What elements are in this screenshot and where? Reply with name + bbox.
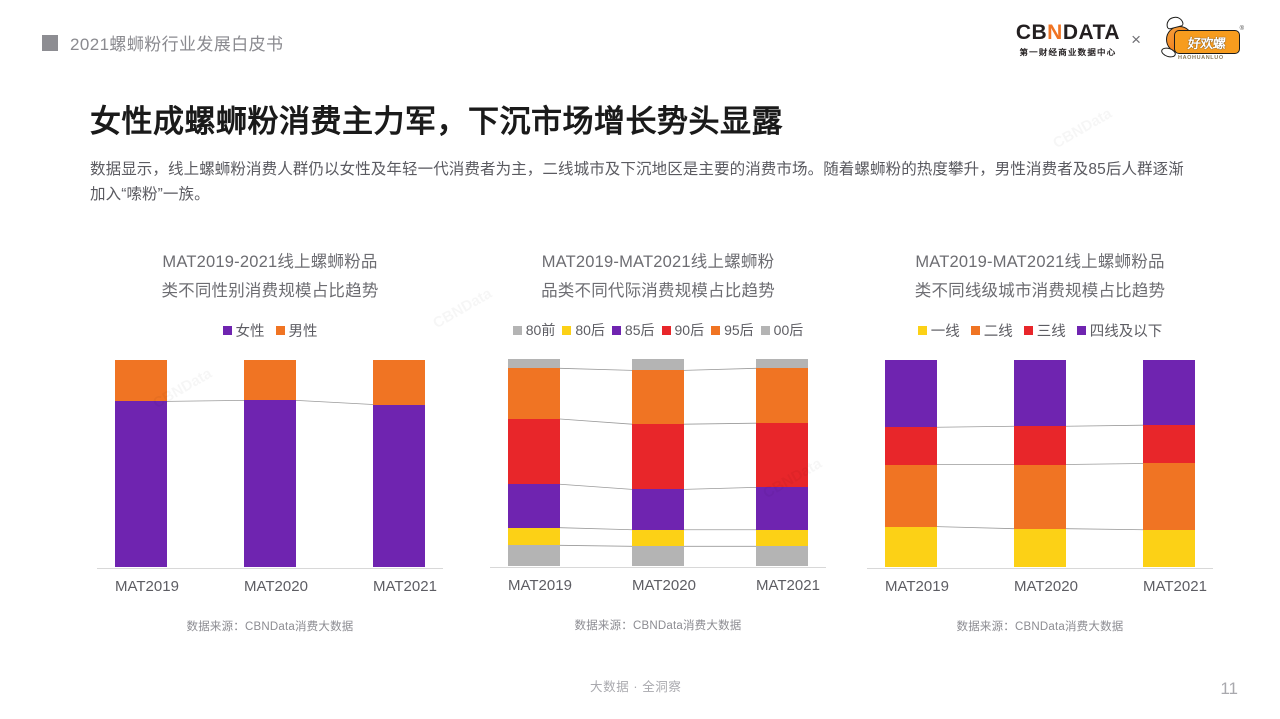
xaxis-label: MAT2019: [115, 578, 167, 595]
legend-item-citytier-3[interactable]: 四线及以下: [1077, 320, 1163, 341]
bar-generation-MAT2021[interactable]: [756, 359, 808, 566]
chart-citytier-title-line2: 类不同线级城市消费规模占比趋势: [915, 277, 1166, 306]
bar-gender-MAT2020[interactable]: [244, 360, 296, 567]
header-logos: CBNDATA 第一财经商业数据中心 × 好欢螺 HAOHUANLUO ®: [1016, 14, 1244, 66]
legend-label: 80前: [526, 320, 556, 340]
page-title: 女性成螺蛳粉消费主力军，下沉市场增长势头显露: [90, 96, 783, 141]
chart-generation-title: MAT2019-MAT2021线上螺蛳粉 品类不同代际消费规模占比趋势: [541, 248, 775, 306]
legend-swatch-icon: [562, 326, 571, 335]
chart-generation-source: 数据来源：CBNData消费大数据: [575, 617, 742, 633]
bar-segment-女性[interactable]: [115, 401, 167, 567]
bar-citytier-MAT2021[interactable]: [1143, 360, 1195, 567]
bar-segment-00后[interactable]: [632, 359, 684, 370]
chart-citytier-title-line1: MAT2019-MAT2021线上螺蛳粉品: [915, 248, 1166, 277]
xaxis-label: MAT2021: [756, 577, 808, 594]
xaxis-label: MAT2020: [1014, 578, 1066, 595]
bar-citytier-MAT2019[interactable]: [885, 360, 937, 567]
legend-label: 四线及以下: [1090, 320, 1163, 341]
legend-label: 85后: [625, 320, 655, 340]
legend-swatch-icon: [513, 326, 522, 335]
bar-segment-80前[interactable]: [756, 546, 808, 566]
legend-label: 00后: [774, 320, 804, 340]
chart-gender-axis: [97, 568, 443, 569]
chart-generation-plot: [508, 359, 808, 566]
bar-segment-三线[interactable]: [1143, 425, 1195, 463]
legend-item-citytier-1[interactable]: 二线: [971, 320, 1013, 341]
bar-segment-95后[interactable]: [508, 368, 560, 419]
chart-gender-legend: 女性男性: [223, 320, 318, 341]
bar-citytier-MAT2020[interactable]: [1014, 360, 1066, 567]
partner-pinyin: HAOHUANLUO: [1178, 55, 1224, 61]
bar-generation-MAT2020[interactable]: [632, 359, 684, 566]
bar-segment-85后[interactable]: [508, 484, 560, 527]
bar-segment-一线[interactable]: [1014, 529, 1066, 567]
legend-item-gender-0[interactable]: 女性: [223, 320, 265, 341]
legend-swatch-icon: [971, 326, 980, 335]
bar-segment-男性[interactable]: [373, 360, 425, 405]
xaxis-label: MAT2020: [632, 577, 684, 594]
chart-gender-bars: [115, 360, 425, 567]
bar-segment-95后[interactable]: [632, 370, 684, 424]
cbndata-word-part2: DATA: [1063, 21, 1120, 44]
bar-segment-95后[interactable]: [756, 368, 808, 423]
chart-gender-source: 数据来源：CBNData消费大数据: [187, 618, 354, 634]
partner-badge-text: 好欢螺: [1187, 33, 1226, 52]
legend-label: 90后: [675, 320, 705, 340]
legend-label: 二线: [984, 320, 1013, 341]
bar-segment-90后[interactable]: [508, 419, 560, 484]
legend-label: 三线: [1037, 320, 1066, 341]
bar-segment-85后[interactable]: [756, 487, 808, 529]
chart-generation-bars: [508, 359, 808, 566]
registered-mark-icon: ®: [1240, 26, 1244, 32]
chart-generation-xaxis-labels: MAT2019MAT2020MAT2021: [508, 577, 808, 594]
legend-label: 男性: [289, 320, 318, 341]
bar-segment-80后[interactable]: [756, 530, 808, 547]
bar-segment-90后[interactable]: [632, 424, 684, 489]
chart-gender: MAT2019-2021线上螺蛳粉品 类不同性别消费规模占比趋势 女性男性 MA…: [85, 248, 455, 634]
legend-swatch-icon: [1024, 326, 1033, 335]
chart-citytier: MAT2019-MAT2021线上螺蛳粉品 类不同线级城市消费规模占比趋势 一线…: [855, 248, 1225, 634]
chart-citytier-xaxis-labels: MAT2019MAT2020MAT2021: [885, 578, 1195, 595]
bar-segment-80前[interactable]: [508, 545, 560, 566]
chart-gender-plot: [115, 360, 425, 567]
xaxis-label: MAT2020: [244, 578, 296, 595]
page-header: 2021螺蛳粉行业发展白皮书 CBNDATA 第一财经商业数据中心 × 好欢螺 …: [0, 0, 1280, 78]
legend-item-generation-1[interactable]: 80后: [562, 320, 605, 340]
bar-segment-二线[interactable]: [885, 465, 937, 527]
page-number: 11: [1220, 679, 1238, 699]
legend-item-citytier-2[interactable]: 三线: [1024, 320, 1066, 341]
xaxis-label: MAT2019: [508, 577, 560, 594]
chart-citytier-plot: [885, 360, 1195, 567]
legend-swatch-icon: [1077, 326, 1086, 335]
cbndata-wordmark: CBNDATA: [1016, 22, 1120, 43]
legend-item-generation-0[interactable]: 80前: [513, 320, 556, 340]
chart-gender-title-line2: 类不同性别消费规模占比趋势: [161, 277, 378, 306]
chart-citytier-axis: [867, 568, 1213, 569]
chart-generation-title-line1: MAT2019-MAT2021线上螺蛳粉: [541, 248, 775, 277]
legend-item-generation-3[interactable]: 90后: [662, 320, 705, 340]
chart-citytier-title: MAT2019-MAT2021线上螺蛳粉品 类不同线级城市消费规模占比趋势: [915, 248, 1166, 306]
logo-separator-icon: ×: [1129, 30, 1143, 50]
legend-label: 95后: [724, 320, 754, 340]
bar-segment-一线[interactable]: [1143, 530, 1195, 567]
chart-generation: MAT2019-MAT2021线上螺蛳粉 品类不同代际消费规模占比趋势 80前8…: [473, 248, 843, 634]
legend-label: 80后: [575, 320, 605, 340]
legend-swatch-icon: [223, 326, 232, 335]
partner-badge: 好欢螺: [1174, 30, 1240, 54]
bar-segment-男性[interactable]: [115, 360, 167, 401]
chart-generation-axis: [490, 567, 826, 568]
chart-gender-xaxis-labels: MAT2019MAT2020MAT2021: [115, 578, 425, 595]
header-marker-icon: [42, 35, 58, 51]
chart-generation-title-line2: 品类不同代际消费规模占比趋势: [541, 277, 775, 306]
bar-segment-三线[interactable]: [885, 427, 937, 464]
bar-gender-MAT2019[interactable]: [115, 360, 167, 567]
bar-segment-四线及以下[interactable]: [1014, 360, 1066, 426]
bar-generation-MAT2019[interactable]: [508, 359, 560, 566]
bar-segment-四线及以下[interactable]: [1143, 360, 1195, 425]
bar-segment-80前[interactable]: [632, 546, 684, 566]
legend-swatch-icon: [711, 326, 720, 335]
cbndata-word-part1: CB: [1016, 21, 1047, 44]
partner-logo: 好欢螺 HAOHUANLUO ®: [1152, 14, 1244, 66]
legend-swatch-icon: [612, 326, 621, 335]
header-title: 2021螺蛳粉行业发展白皮书: [70, 30, 283, 55]
chart-citytier-source: 数据来源：CBNData消费大数据: [957, 618, 1124, 634]
xaxis-label: MAT2019: [885, 578, 937, 595]
footer-note: 大数据 · 全洞察: [590, 676, 682, 695]
bar-segment-男性[interactable]: [244, 360, 296, 400]
chart-gender-title: MAT2019-2021线上螺蛳粉品 类不同性别消费规模占比趋势: [161, 248, 378, 306]
charts-row: MAT2019-2021线上螺蛳粉品 类不同性别消费规模占比趋势 女性男性 MA…: [0, 248, 1280, 634]
bar-segment-00后[interactable]: [756, 359, 808, 368]
bar-segment-二线[interactable]: [1143, 463, 1195, 529]
legend-swatch-icon: [761, 326, 770, 335]
legend-item-citytier-0[interactable]: 一线: [918, 320, 960, 341]
watermark: CBNData: [1050, 105, 1115, 152]
xaxis-label: MAT2021: [1143, 578, 1195, 595]
legend-swatch-icon: [918, 326, 927, 335]
legend-label: 女性: [236, 320, 265, 341]
legend-item-gender-1[interactable]: 男性: [276, 320, 318, 341]
chart-generation-legend: 80前80后85后90后95后00后: [513, 320, 803, 340]
bar-segment-00后[interactable]: [508, 359, 560, 368]
bar-segment-一线[interactable]: [885, 527, 937, 567]
bar-gender-MAT2021[interactable]: [373, 360, 425, 567]
page-description: 数据显示，线上螺蛳粉消费人群仍以女性及年轻一代消费者为主，二线城市及下沉地区是主…: [90, 157, 1195, 207]
chart-gender-title-line1: MAT2019-2021线上螺蛳粉品: [161, 248, 378, 277]
legend-item-generation-2[interactable]: 85后: [612, 320, 655, 340]
legend-item-generation-5[interactable]: 00后: [761, 320, 804, 340]
bar-segment-三线[interactable]: [1014, 426, 1066, 464]
chart-citytier-bars: [885, 360, 1195, 567]
bar-segment-85后[interactable]: [632, 489, 684, 529]
cbndata-subtitle: 第一财经商业数据中心: [1019, 46, 1116, 57]
cbndata-logo: CBNDATA 第一财经商业数据中心: [1016, 22, 1120, 58]
legend-label: 一线: [931, 320, 960, 341]
bar-segment-女性[interactable]: [244, 400, 296, 567]
slide-page: 2021螺蛳粉行业发展白皮书 CBNDATA 第一财经商业数据中心 × 好欢螺 …: [0, 0, 1280, 719]
legend-swatch-icon: [662, 326, 671, 335]
cbndata-word-accent: N: [1047, 21, 1063, 44]
bar-segment-女性[interactable]: [373, 405, 425, 567]
legend-swatch-icon: [276, 326, 285, 335]
legend-item-generation-4[interactable]: 95后: [711, 320, 754, 340]
chart-citytier-legend: 一线二线三线四线及以下: [918, 320, 1163, 341]
bar-segment-80后[interactable]: [632, 530, 684, 547]
bar-segment-二线[interactable]: [1014, 465, 1066, 529]
bar-segment-80后[interactable]: [508, 528, 560, 546]
xaxis-label: MAT2021: [373, 578, 425, 595]
header-breadcrumb: 2021螺蛳粉行业发展白皮书: [42, 30, 283, 55]
bar-segment-90后[interactable]: [756, 423, 808, 487]
bar-segment-四线及以下[interactable]: [885, 360, 937, 427]
